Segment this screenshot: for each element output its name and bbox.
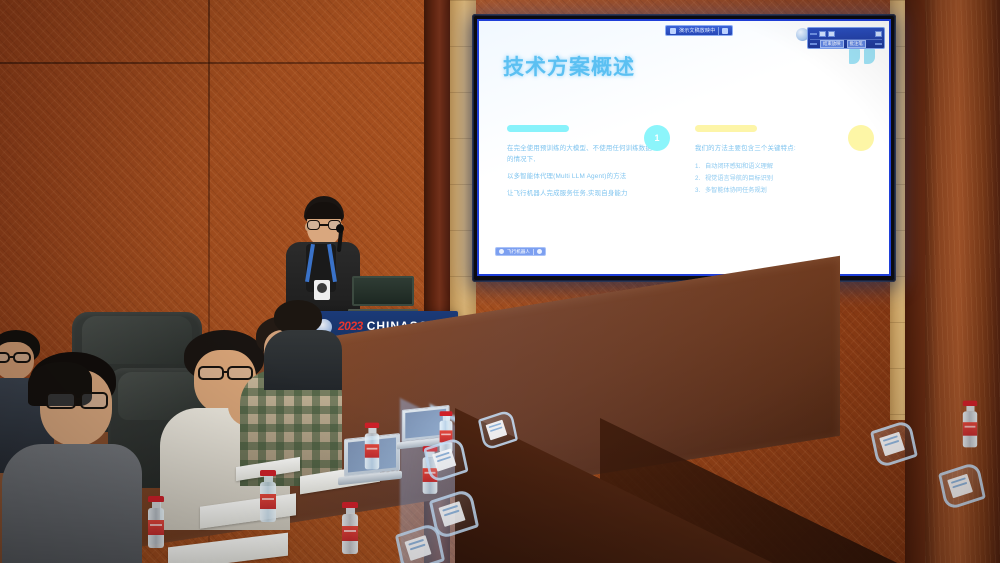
attendee-glasses xyxy=(198,366,224,380)
slide-badge-one: 1 xyxy=(644,125,670,151)
list-number: 2. xyxy=(695,173,700,185)
presenter-badge xyxy=(314,280,330,300)
glasses-bridge xyxy=(75,398,81,400)
end-show-chip[interactable]: 结束放映 xyxy=(820,40,844,48)
slide-canvas[interactable]: 演示文稿放映中 结束放映 批注笔 xyxy=(479,21,889,274)
slide-footer-tag: 飞行机器人 xyxy=(495,247,546,256)
bottle-body xyxy=(260,482,276,522)
attendee-glasses xyxy=(46,392,76,409)
column-paragraph: 以多智能体代理(Multi LLM Agent)的方法 xyxy=(507,171,657,182)
bottle-body xyxy=(148,508,164,548)
tag-dot-icon xyxy=(499,249,504,254)
conference-room-scene: 演示文稿放映中 结束放映 批注笔 xyxy=(0,0,1000,563)
microphone-icon xyxy=(336,224,344,233)
glasses-bridge xyxy=(223,371,228,373)
nameplate-holder xyxy=(873,425,915,463)
nameplate-holder xyxy=(941,467,983,505)
water-bottle xyxy=(148,496,164,548)
laptop-screen xyxy=(352,276,414,306)
column-paragraph: 让飞行机器人完成服务任务,实现自身能力 xyxy=(507,188,657,199)
nameplate-holder xyxy=(398,528,442,563)
nameplate-line xyxy=(437,456,451,462)
list-text: 多智能体协同任务规划 xyxy=(705,187,767,194)
attendee-jacket xyxy=(264,330,342,390)
bottle-label xyxy=(365,444,379,458)
presentation-icon xyxy=(670,28,676,34)
floating-window-toolbar[interactable]: 结束放映 批注笔 xyxy=(807,27,885,49)
attendee-glasses xyxy=(80,392,108,409)
close-button[interactable] xyxy=(875,31,882,37)
bottle-label xyxy=(342,526,358,541)
volume-icon[interactable] xyxy=(875,43,882,45)
water-bottle xyxy=(260,470,276,522)
bottle-label xyxy=(260,494,276,509)
column-paragraph: 在完全使用预训练的大模型、不使用任何训练数据的情况下, xyxy=(507,143,657,165)
divider xyxy=(533,249,534,255)
attendee-glasses xyxy=(0,352,10,363)
quote-decoration xyxy=(849,49,875,64)
display-screen[interactable]: 演示文稿放映中 结束放映 批注笔 xyxy=(477,19,891,276)
bottle-label xyxy=(963,422,977,436)
slide-title: 技术方案概述 xyxy=(503,51,635,81)
slideshow-status-label: 演示文稿放映中 xyxy=(679,27,715,34)
nameplate-holder xyxy=(426,442,466,478)
annotate-chip[interactable]: 批注笔 xyxy=(847,40,866,48)
attendee-sweater xyxy=(2,444,142,563)
bottle-body xyxy=(342,514,358,554)
glasses-bridge xyxy=(10,356,14,358)
glasses-lens xyxy=(307,220,320,230)
pen-icon[interactable] xyxy=(810,43,817,45)
list-text: 自动闭环感知和语义理解 xyxy=(705,163,773,170)
glasses-bridge xyxy=(320,224,328,226)
attendee-hair xyxy=(274,300,322,334)
quote-glyph xyxy=(864,49,875,64)
slide-column-left: 在完全使用预训练的大模型、不使用任何训练数据的情况下, 以多智能体代理(Mult… xyxy=(507,125,657,205)
podium-laptop[interactable] xyxy=(348,276,418,316)
water-bottle xyxy=(963,401,977,448)
list-text: 视觉语言导航的目标识别 xyxy=(705,175,773,182)
tag-dot-icon xyxy=(537,249,542,254)
slideshow-status-pill[interactable]: 演示文稿放映中 xyxy=(665,25,733,36)
column-header-bar xyxy=(507,125,569,132)
list-item: 1. 自动闭环感知和语义理解 xyxy=(695,161,855,173)
attendee-back-dark xyxy=(268,300,338,390)
bottle-body xyxy=(963,411,977,447)
column-header-bar xyxy=(695,125,757,132)
pointer-icon[interactable] xyxy=(722,28,728,34)
list-number: 3. xyxy=(695,185,700,197)
list-number: 1. xyxy=(695,161,700,173)
restore-button[interactable] xyxy=(828,31,835,37)
slide-column-right: 我们的方法主要包含三个关键特点: 1. 自动闭环感知和语义理解 2. 视觉语言导… xyxy=(695,125,855,197)
minimize-button[interactable] xyxy=(810,33,817,35)
slide-badge-two xyxy=(848,125,874,151)
bottle-label xyxy=(148,520,164,535)
slide-footer-label: 飞行机器人 xyxy=(507,249,530,255)
column-heading: 我们的方法主要包含三个关键特点: xyxy=(695,143,855,154)
bottle-body xyxy=(365,433,379,469)
attendee-left-gray xyxy=(18,352,138,563)
nameplate-holder xyxy=(480,414,515,446)
quote-glyph xyxy=(849,49,860,64)
list-item: 2. 视觉语言导航的目标识别 xyxy=(695,173,855,185)
list-item: 3. 多智能体协同任务规划 xyxy=(695,185,855,197)
water-bottle xyxy=(365,423,379,470)
maximize-button[interactable] xyxy=(819,31,826,37)
column-numbered-list: 1. 自动闭环感知和语义理解 2. 视觉语言导航的目标识别 3. 多智能体协同任… xyxy=(695,161,855,197)
water-bottle xyxy=(342,502,358,554)
divider xyxy=(718,27,719,35)
